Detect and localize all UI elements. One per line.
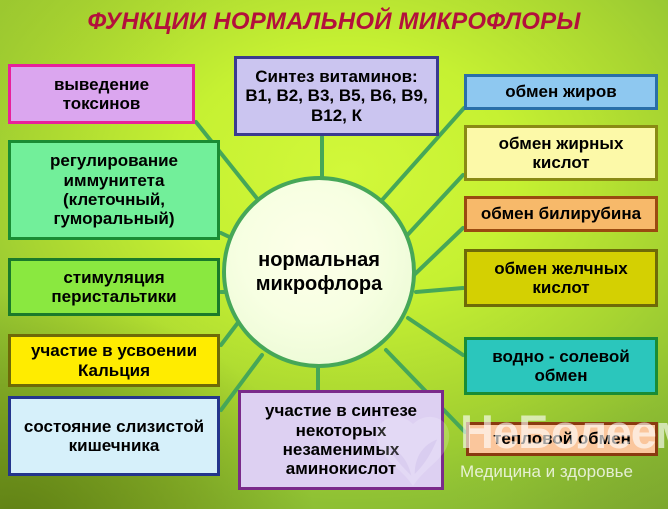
node-obmen-zhirnykh-kislot: обмен жирных кислот (464, 125, 658, 181)
node-regulirovanie-immuniteta: регулирование иммунитета (клеточный, гум… (8, 140, 220, 240)
node-vyvedenie-toksinov: выведение токсинов (8, 64, 195, 124)
node-label: участие в синтезе некоторых незаменимых … (246, 401, 436, 479)
node-label: Синтез витаминов: В1, В2, В3, В5, В6, В9… (242, 67, 431, 125)
node-sostoyanie-slizistoy: состояние слизистой кишечника (8, 396, 220, 476)
page-title: ФУНКЦИИ НОРМАЛЬНОЙ МИКРОФЛОРЫ (0, 8, 668, 36)
node-label: выведение токсинов (16, 75, 187, 114)
node-label: регулирование иммунитета (клеточный, гум… (16, 151, 212, 229)
node-label: состояние слизистой кишечника (16, 417, 212, 456)
node-label: обмен жирных кислот (472, 134, 650, 173)
node-label: участие в усвоении Кальция (16, 341, 212, 380)
node-label: обмен желчных кислот (472, 259, 650, 298)
node-label: стимуляция перистальтики (16, 268, 212, 307)
connector-obmen-bilirubina (414, 228, 463, 275)
center-node-normal-microflora: нормальная микрофлора (222, 176, 416, 368)
connector-obmen-zhirnykh-kislot (400, 175, 463, 243)
node-stimulyaciya-peristaltiki: стимуляция перистальтики (8, 258, 220, 316)
node-teplovoy-obmen: тепловой обмен (466, 422, 658, 456)
node-label: тепловой обмен (493, 429, 631, 448)
node-obmen-zhirov: обмен жиров (464, 74, 658, 110)
node-sintez-vitaminov: Синтез витаминов: В1, В2, В3, В5, В6, В9… (234, 56, 439, 136)
node-vodno-solevoy-obmen: водно - солевой обмен (464, 337, 658, 395)
node-label: водно - солевой обмен (472, 347, 650, 386)
diagram-canvas: ФУНКЦИИ НОРМАЛЬНОЙ МИКРОФЛОРЫ нормальная… (0, 0, 668, 509)
node-uchastie-v-sinteze-aminokislot: участие в синтезе некоторых незаменимых … (238, 390, 444, 490)
node-obmen-zhelchnykh-kislot: обмен желчных кислот (464, 249, 658, 307)
node-uchastie-v-usvoenii-kalciya: участие в усвоении Кальция (8, 334, 220, 387)
connector-vodno-solevoy-obmen (408, 318, 463, 355)
connector-obmen-zhelchnykh-kislot (416, 288, 463, 292)
node-obmen-bilirubina: обмен билирубина (464, 196, 658, 232)
node-label: обмен жиров (505, 82, 616, 101)
node-label: обмен билирубина (481, 204, 641, 223)
